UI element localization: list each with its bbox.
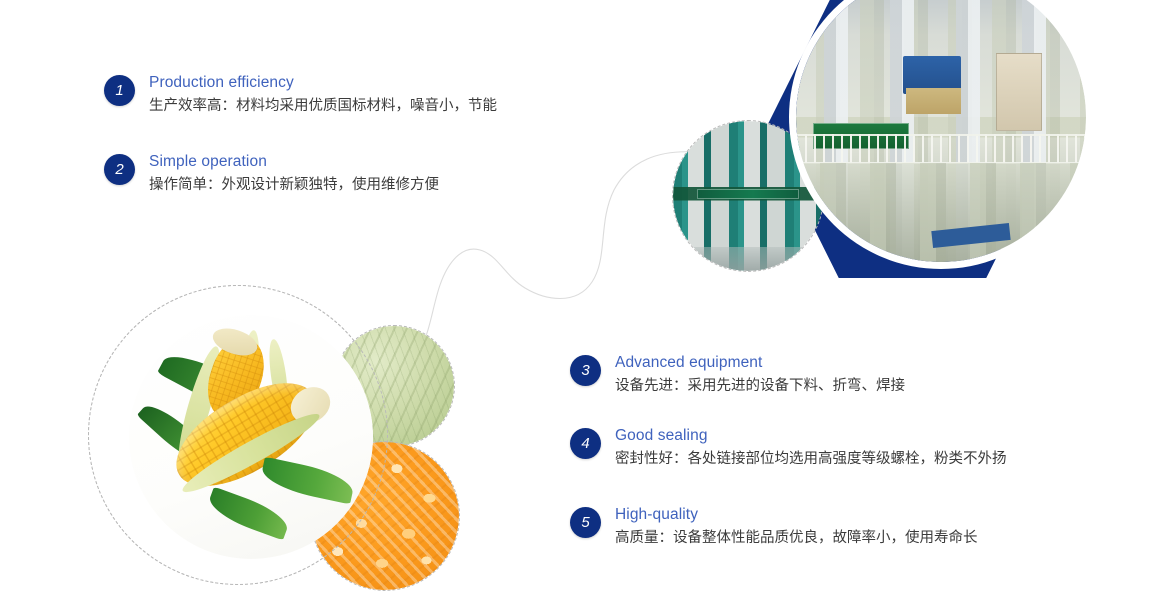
beige-panel — [996, 53, 1042, 130]
feature-description-1: 生产效率高：材料均采用优质国标材料，噪音小，节能 — [149, 95, 497, 117]
feature-item-3[interactable]: 3 Advanced equipment 设备先进：采用先进的设备下料、折弯、焊… — [570, 353, 905, 397]
feature-description-4: 密封性好：各处链接部位均选用高强度等级螺栓，粉类不外扬 — [615, 448, 1007, 470]
feature-heading-3: Advanced equipment — [615, 353, 905, 373]
feature-badge-1: 1 — [104, 75, 135, 106]
feature-heading-5: High-quality — [615, 505, 978, 525]
feature-heading-4: Good sealing — [615, 426, 1007, 446]
feature-heading-2: Simple operation — [149, 152, 439, 172]
feature-text-3: Advanced equipment 设备先进：采用先进的设备下料、折弯、焊接 — [615, 353, 905, 397]
feature-description-3: 设备先进：采用先进的设备下料、折弯、焊接 — [615, 375, 905, 397]
feature-description-5: 高质量：设备整体性能品质优良，故障率小，使用寿命长 — [615, 527, 978, 549]
machinery-banner — [697, 189, 799, 199]
feature-badge-2: 2 — [104, 154, 135, 185]
feature-badge-3: 3 — [570, 355, 601, 386]
feature-item-2[interactable]: 2 Simple operation 操作简单：外观设计新颖独特，使用维修方便 — [104, 152, 439, 196]
flour-mill-plant-image — [796, 0, 1086, 262]
feature-text-5: High-quality 高质量：设备整体性能品质优良，故障率小，使用寿命长 — [615, 505, 978, 549]
feature-text-4: Good sealing 密封性好：各处链接部位均选用高强度等级螺栓，粉类不外扬 — [615, 426, 1007, 470]
platform-railing — [796, 134, 1086, 164]
feature-item-5[interactable]: 5 High-quality 高质量：设备整体性能品质优良，故障率小，使用寿命长 — [570, 505, 978, 549]
feature-text-1: Production efficiency 生产效率高：材料均采用优质国标材料，… — [149, 73, 497, 117]
feature-badge-4: 4 — [570, 428, 601, 459]
corn-outer-dashed-ring-overlay — [88, 285, 388, 585]
flour-mill-plant-photo — [796, 0, 1086, 262]
feature-heading-1: Production efficiency — [149, 73, 497, 93]
feature-item-4[interactable]: 4 Good sealing 密封性好：各处链接部位均选用高强度等级螺栓，粉类不… — [570, 426, 1007, 470]
infographic-canvas: 1 Production efficiency 生产效率高：材料均采用优质国标材… — [0, 0, 1154, 591]
feature-item-1[interactable]: 1 Production efficiency 生产效率高：材料均采用优质国标材… — [104, 73, 497, 117]
feature-description-2: 操作简单：外观设计新颖独特，使用维修方便 — [149, 174, 439, 196]
khaki-bin — [906, 88, 961, 114]
feature-badge-5: 5 — [570, 507, 601, 538]
feature-text-2: Simple operation 操作简单：外观设计新颖独特，使用维修方便 — [149, 152, 439, 196]
